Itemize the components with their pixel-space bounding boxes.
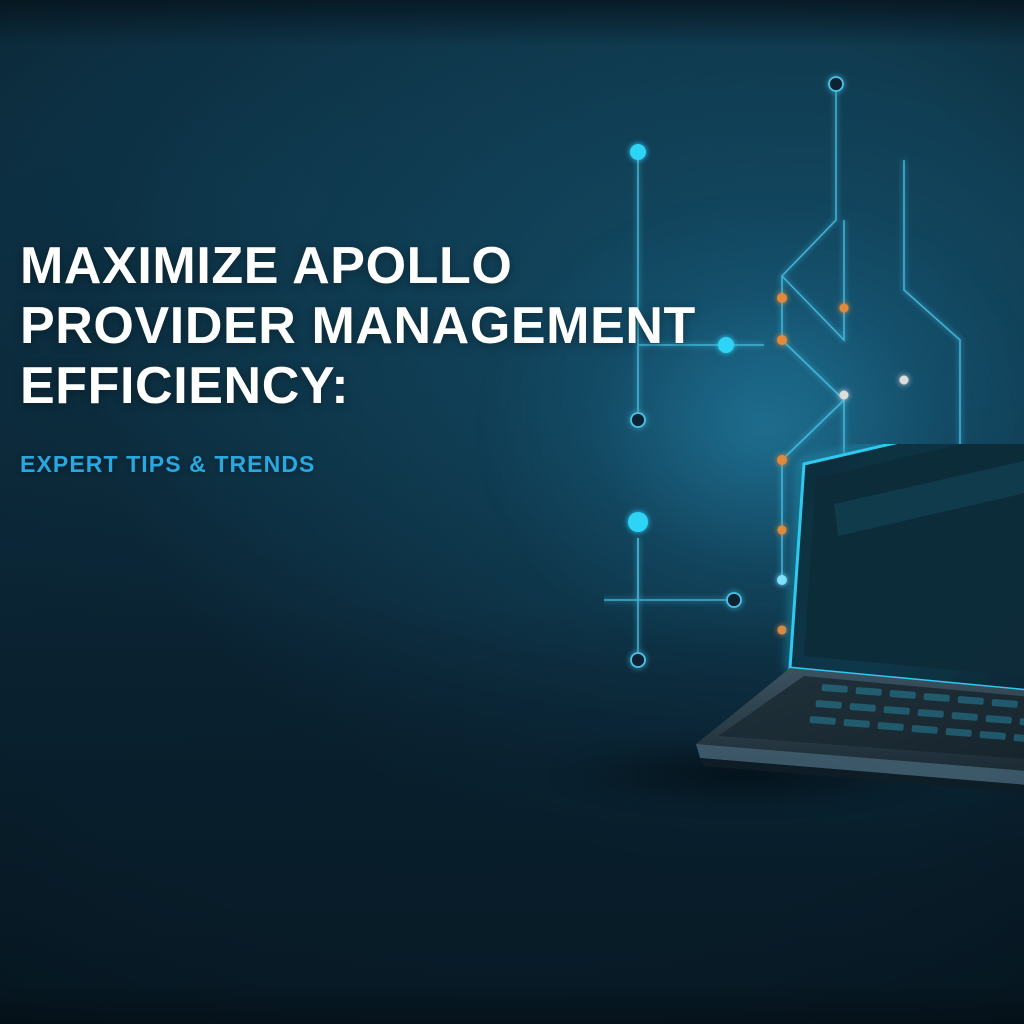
laptop-illustration bbox=[504, 444, 1024, 864]
headline-line-3: EFFICIENCY: bbox=[20, 356, 720, 416]
background-bottom-shade bbox=[0, 984, 1024, 1024]
banner-canvas: MAXIMIZE APOLLO PROVIDER MANAGEMENT EFFI… bbox=[0, 0, 1024, 1024]
headline-line-2: PROVIDER MANAGEMENT bbox=[20, 296, 720, 356]
subheadline: EXPERT TIPS & TRENDS bbox=[20, 450, 720, 478]
page-title: MAXIMIZE APOLLO PROVIDER MANAGEMENT EFFI… bbox=[20, 236, 720, 416]
headline-line-1: MAXIMIZE APOLLO bbox=[20, 236, 720, 296]
headline-block: MAXIMIZE APOLLO PROVIDER MANAGEMENT EFFI… bbox=[20, 236, 720, 478]
